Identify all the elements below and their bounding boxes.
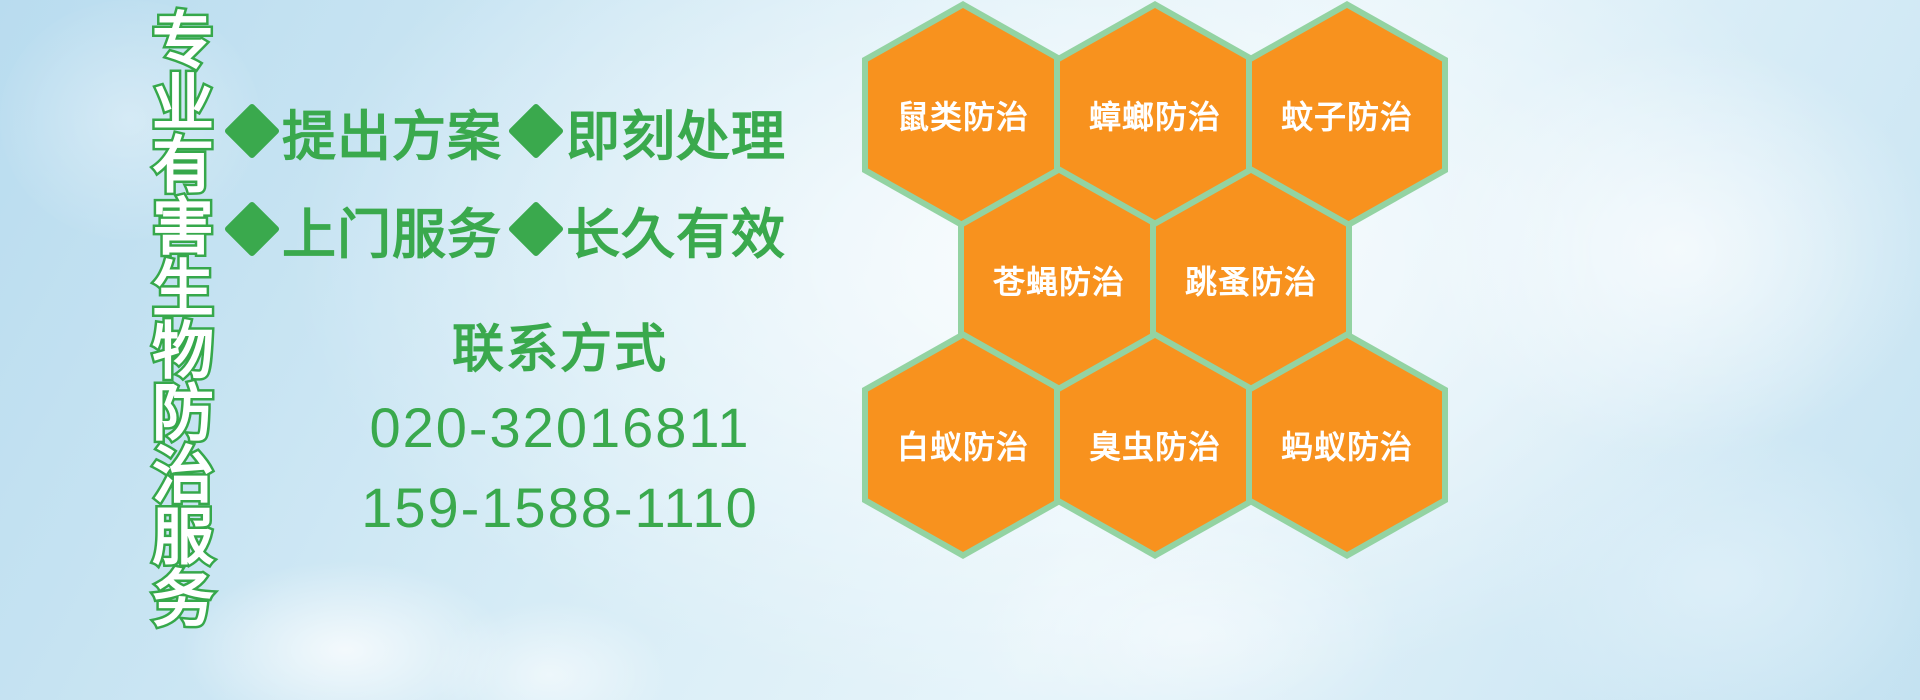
feature-item: 即刻处理 — [516, 92, 786, 171]
service-hexagon-grid: 鼠类防治 蟑螂防治 蚊子防治 苍蝇防治 跳蚤防治 白蚁防治 臭虫防治 蚂 — [860, 0, 1460, 570]
diamond-icon — [508, 103, 565, 160]
contact-block: 联系方式 020-32016811 159-1588-1110 — [290, 312, 830, 548]
feature-item: 上门服务 — [232, 190, 502, 269]
background-light-blob — [180, 560, 510, 700]
feature-label: 提出方案 — [282, 92, 502, 171]
background-light-blob — [430, 600, 670, 700]
hexagon-label: 蚂蚁防治 — [1281, 422, 1413, 468]
background-light-blob — [1500, 430, 1920, 700]
hexagon-label: 苍蝇防治 — [993, 257, 1125, 303]
feature-item: 长久有效 — [516, 190, 786, 269]
feature-row: 提出方案 即刻处理 — [232, 82, 872, 180]
hexagon-label: 鼠类防治 — [897, 92, 1029, 138]
hexagon-label: 跳蚤防治 — [1185, 257, 1317, 303]
phone-number-landline[interactable]: 020-32016811 — [290, 388, 830, 468]
background-light-blob — [1420, 40, 1920, 460]
hexagon-label: 白蚁防治 — [897, 422, 1029, 468]
feature-item: 提出方案 — [232, 92, 502, 171]
feature-label: 上门服务 — [282, 190, 502, 269]
contact-heading: 联系方式 — [290, 312, 830, 388]
feature-label: 即刻处理 — [566, 92, 786, 171]
feature-label: 长久有效 — [566, 190, 786, 269]
feature-list: 提出方案 即刻处理 上门服务 长久有效 — [232, 82, 872, 278]
diamond-icon — [508, 201, 565, 258]
diamond-icon — [224, 103, 281, 160]
hexagon-label: 臭虫防治 — [1089, 422, 1221, 468]
hexagon-label: 蚊子防治 — [1281, 92, 1413, 138]
hexagon-label: 蟑螂防治 — [1089, 92, 1221, 138]
feature-row: 上门服务 长久有效 — [232, 180, 872, 278]
phone-number-mobile[interactable]: 159-1588-1110 — [290, 468, 830, 548]
pest-control-service-banner: 专业有害生物防治服务 提出方案 即刻处理 上门服务 长久有效 联 — [0, 0, 1920, 700]
vertical-headline: 专业有害生物防治服务 — [112, 8, 208, 568]
diamond-icon — [224, 201, 281, 258]
